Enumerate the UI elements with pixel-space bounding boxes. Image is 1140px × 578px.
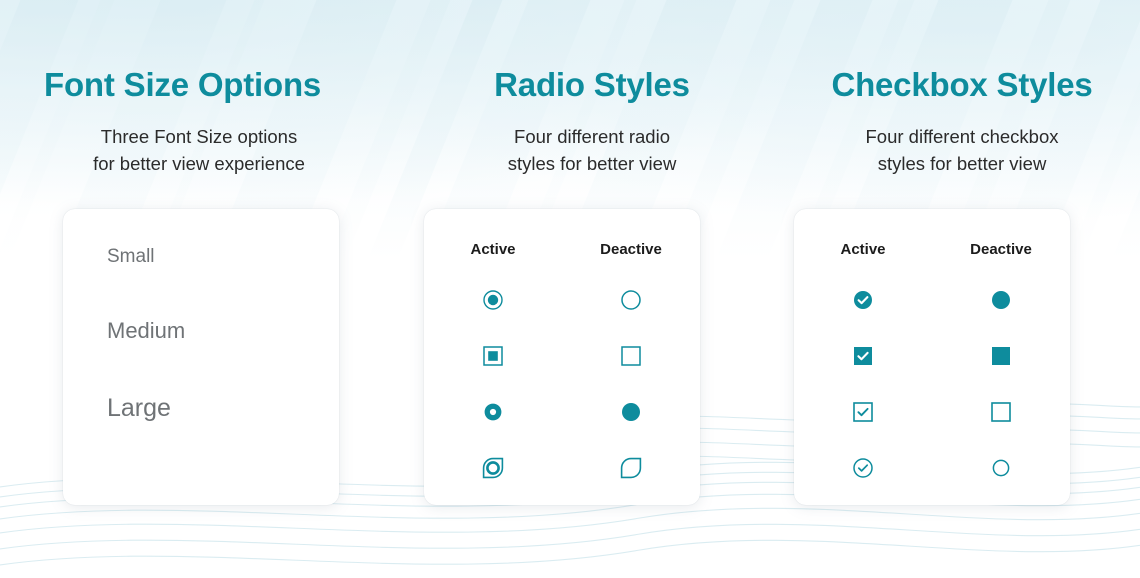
checkbox-row-2 bbox=[794, 328, 1070, 384]
radio-row-3 bbox=[424, 384, 700, 440]
checkbox-cell-deactive-4 bbox=[932, 457, 1070, 479]
checkbox-cell-deactive-2 bbox=[932, 345, 1070, 367]
checkbox-column-header-deactive: Deactive bbox=[932, 241, 1070, 258]
panel-subtitle-radio-styles: Four different radio styles for better v… bbox=[420, 101, 770, 177]
font-size-option-large[interactable]: Large bbox=[107, 396, 339, 421]
radio-row-4 bbox=[424, 440, 700, 496]
radio-column-header-active: Active bbox=[424, 241, 562, 258]
radio-circle-solid-icon[interactable] bbox=[620, 401, 642, 423]
checkbox-cell-deactive-3 bbox=[932, 401, 1070, 423]
checkbox-rows bbox=[794, 258, 1070, 496]
panel-font-size-options: Font Size Options Three Font Size option… bbox=[0, 0, 400, 578]
checkbox-cell-active-2 bbox=[794, 345, 932, 367]
checkbox-square-solid-check-icon[interactable] bbox=[852, 345, 874, 367]
checkbox-cell-deactive-1 bbox=[932, 289, 1070, 311]
checkbox-row-1 bbox=[794, 272, 1070, 328]
radio-cell-active-4 bbox=[424, 457, 562, 479]
radio-cell-deactive-4 bbox=[562, 457, 700, 479]
radio-cell-active-2 bbox=[424, 345, 562, 367]
checkbox-row-3 bbox=[794, 384, 1070, 440]
radio-donut-filled-icon[interactable] bbox=[482, 401, 504, 423]
checkbox-cell-active-4 bbox=[794, 457, 932, 479]
checkbox-column-header-active: Active bbox=[794, 241, 932, 258]
checkbox-circle-outline-icon[interactable] bbox=[990, 457, 1012, 479]
checkbox-column-headers: Active Deactive bbox=[794, 209, 1070, 258]
card-checkbox-styles: Active Deactive bbox=[794, 209, 1070, 505]
checkbox-circle-outline-check-icon[interactable] bbox=[852, 457, 874, 479]
radio-cell-deactive-2 bbox=[562, 345, 700, 367]
checkbox-cell-active-3 bbox=[794, 401, 932, 423]
radio-circle-ring-filled-dot-icon[interactable] bbox=[482, 289, 504, 311]
checkbox-square-outline-check-icon[interactable] bbox=[852, 401, 874, 423]
checkbox-circle-solid-check-icon[interactable] bbox=[852, 289, 874, 311]
radio-cell-deactive-3 bbox=[562, 401, 700, 423]
radio-column-header-deactive: Deactive bbox=[562, 241, 700, 258]
checkbox-square-solid-icon[interactable] bbox=[990, 345, 1012, 367]
radio-row-2 bbox=[424, 328, 700, 384]
radio-column-headers: Active Deactive bbox=[424, 209, 700, 258]
card-font-size: Small Medium Large bbox=[63, 209, 339, 505]
radio-leaf-outline-icon[interactable] bbox=[620, 457, 642, 479]
page-root: Font Size Options Three Font Size option… bbox=[0, 0, 1140, 578]
page-title-radio-styles: Radio Styles bbox=[420, 0, 770, 101]
radio-row-1 bbox=[424, 272, 700, 328]
page-title-font-size: Font Size Options bbox=[44, 0, 400, 101]
panel-subtitle-font-size: Three Font Size options for better view … bbox=[44, 101, 400, 177]
font-size-option-medium[interactable]: Medium bbox=[107, 320, 339, 342]
radio-cell-active-3 bbox=[424, 401, 562, 423]
checkbox-square-outline-icon[interactable] bbox=[990, 401, 1012, 423]
panel-subtitle-checkbox-styles: Four different checkbox styles for bette… bbox=[790, 101, 1140, 177]
font-size-option-small[interactable]: Small bbox=[107, 247, 339, 266]
radio-square-ring-filled-icon[interactable] bbox=[482, 345, 504, 367]
radio-circle-outline-icon[interactable] bbox=[620, 289, 642, 311]
page-title-checkbox-styles: Checkbox Styles bbox=[790, 0, 1140, 101]
checkbox-cell-active-1 bbox=[794, 289, 932, 311]
radio-rows bbox=[424, 258, 700, 496]
panel-radio-styles: Radio Styles Four different radio styles… bbox=[400, 0, 770, 578]
radio-cell-deactive-1 bbox=[562, 289, 700, 311]
checkbox-circle-solid-icon[interactable] bbox=[990, 289, 1012, 311]
radio-cell-active-1 bbox=[424, 289, 562, 311]
radio-leaf-filled-ring-icon[interactable] bbox=[482, 457, 504, 479]
radio-square-outline-icon[interactable] bbox=[620, 345, 642, 367]
card-radio-styles: Active Deactive bbox=[424, 209, 700, 505]
checkbox-row-4 bbox=[794, 440, 1070, 496]
panel-checkbox-styles: Checkbox Styles Four different checkbox … bbox=[770, 0, 1140, 578]
